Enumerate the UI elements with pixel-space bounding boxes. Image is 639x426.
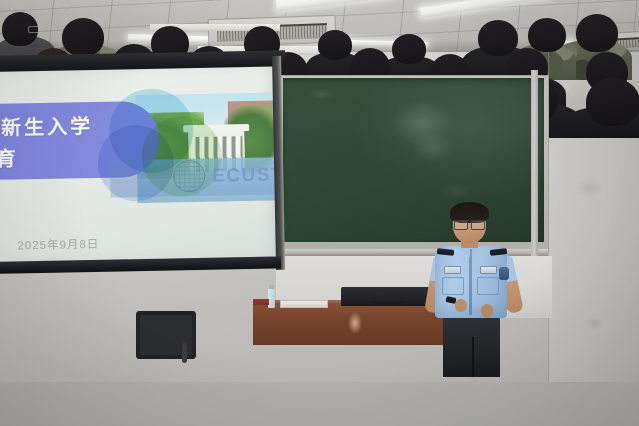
uniform-arm-patch bbox=[499, 267, 509, 280]
uniform-name-badge bbox=[444, 266, 461, 274]
speaker-trousers bbox=[443, 315, 500, 377]
podium-scuff-mark bbox=[348, 312, 362, 334]
speaker-left-hand bbox=[455, 299, 467, 312]
chalk-residue bbox=[309, 88, 335, 100]
shirt-pocket bbox=[477, 277, 499, 295]
student-head bbox=[586, 78, 639, 126]
office-chair[interactable] bbox=[136, 311, 196, 367]
shirt-button-placket bbox=[469, 249, 472, 315]
speaker-right-hand bbox=[481, 304, 493, 318]
chalk-residue bbox=[439, 182, 475, 200]
chalk-residue bbox=[411, 132, 455, 162]
board-divider-rail bbox=[531, 70, 538, 256]
papers-on-podium[interactable] bbox=[280, 300, 328, 308]
ecust-wordmark: ECUST bbox=[212, 164, 282, 187]
student-head bbox=[62, 18, 104, 56]
monitor-stand bbox=[372, 301, 406, 305]
uniform-name-badge bbox=[480, 266, 497, 274]
wall-smudge bbox=[584, 316, 604, 330]
wall-smudge bbox=[576, 178, 604, 198]
projection-screen[interactable]: ECUST 本科新生入学 全教育 2025年9月8日 bbox=[0, 62, 282, 268]
chair-backrest bbox=[136, 311, 196, 359]
student-head bbox=[478, 20, 518, 56]
speaker-police-officer bbox=[419, 205, 527, 375]
eyeglasses-icon bbox=[454, 220, 485, 228]
chair-armrest bbox=[182, 343, 187, 363]
slide-title-line-2: 全教育 bbox=[0, 142, 19, 172]
student-head bbox=[576, 14, 618, 52]
bottle-cap bbox=[269, 285, 274, 289]
student-head bbox=[318, 30, 352, 60]
slide-title-line-1: 本科新生入学 bbox=[0, 110, 93, 142]
slide-date: 2025年9月8日 bbox=[17, 236, 99, 254]
lecture-hall-photo: ECUST 本科新生入学 全教育 2025年9月8日 bbox=[0, 0, 639, 426]
shirt-pocket bbox=[442, 277, 464, 295]
student-head bbox=[528, 18, 566, 52]
student-glasses-icon bbox=[28, 26, 43, 33]
water-bottle[interactable] bbox=[268, 288, 275, 308]
red-folder[interactable] bbox=[253, 299, 269, 305]
student-head bbox=[392, 34, 426, 64]
